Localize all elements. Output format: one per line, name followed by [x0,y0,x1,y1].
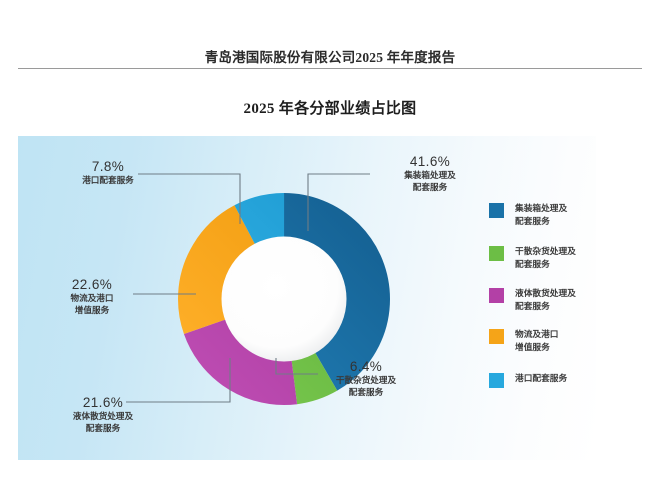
legend-swatch-dry-bulk [489,246,504,261]
callout-dry-bulk-name-line1: 干散杂货处理及 [306,375,426,387]
legend-swatch-logistics [489,329,504,344]
legend-swatch-container [489,203,504,218]
callout-dry-bulk: 6.4% 干散杂货处理及 配套服务 [306,358,426,398]
callout-container: 41.6% 集装箱处理及 配套服务 [370,153,490,193]
legend-item-container[interactable]: 集装箱处理及 配套服务 [489,202,567,227]
callout-logistics-name-line1: 物流及港口 [32,293,152,305]
callout-logistics: 22.6% 物流及港口 增值服务 [32,276,152,316]
callout-liquid-bulk: 21.6% 液体散货处理及 配套服务 [38,394,168,434]
callout-container-name-line2: 配套服务 [370,182,490,194]
document-header-text: 青岛港国际股份有限公司2025 年年度报告 [205,50,456,65]
callout-port-services: 7.8% 港口配套服务 [48,158,168,187]
legend-item-port-services[interactable]: 港口配套服务 [489,372,567,388]
callout-port-services-percent: 7.8% [48,158,168,175]
legend-swatch-port-services [489,373,504,388]
donut-hole [222,237,347,362]
callout-logistics-percent: 22.6% [32,276,152,293]
chart-stage: 41.6% 集装箱处理及 配套服务 6.4% 干散杂货处理及 配套服务 21.6… [18,136,596,460]
chart-panel: 41.6% 集装箱处理及 配套服务 6.4% 干散杂货处理及 配套服务 21.6… [18,136,596,460]
callout-dry-bulk-percent: 6.4% [306,358,426,375]
legend-label-port-services: 港口配套服务 [515,372,567,385]
legend-item-logistics[interactable]: 物流及港口 增值服务 [489,328,558,353]
legend-item-dry-bulk[interactable]: 干散杂货处理及 配套服务 [489,245,576,270]
legend-label-dry-bulk: 干散杂货处理及 配套服务 [515,245,576,270]
callout-liquid-bulk-name-line1: 液体散货处理及 [38,411,168,423]
callout-liquid-bulk-name-line2: 配套服务 [38,423,168,435]
legend-label-container: 集装箱处理及 配套服务 [515,202,567,227]
callout-container-percent: 41.6% [370,153,490,170]
chart-title: 2025 年各分部业绩占比图 [0,97,660,118]
header-divider [18,68,642,69]
callout-port-services-name-line1: 港口配套服务 [48,175,168,187]
legend-item-liquid-bulk[interactable]: 液体散货处理及 配套服务 [489,287,576,312]
callout-container-name-line1: 集装箱处理及 [370,170,490,182]
document-header: 青岛港国际股份有限公司2025 年年度报告 [0,46,660,67]
legend-label-liquid-bulk: 液体散货处理及 配套服务 [515,287,576,312]
legend-swatch-liquid-bulk [489,288,504,303]
callout-liquid-bulk-percent: 21.6% [38,394,168,411]
callout-logistics-name-line2: 增值服务 [32,305,152,317]
legend-label-logistics: 物流及港口 增值服务 [515,328,558,353]
callout-dry-bulk-name-line2: 配套服务 [306,387,426,399]
